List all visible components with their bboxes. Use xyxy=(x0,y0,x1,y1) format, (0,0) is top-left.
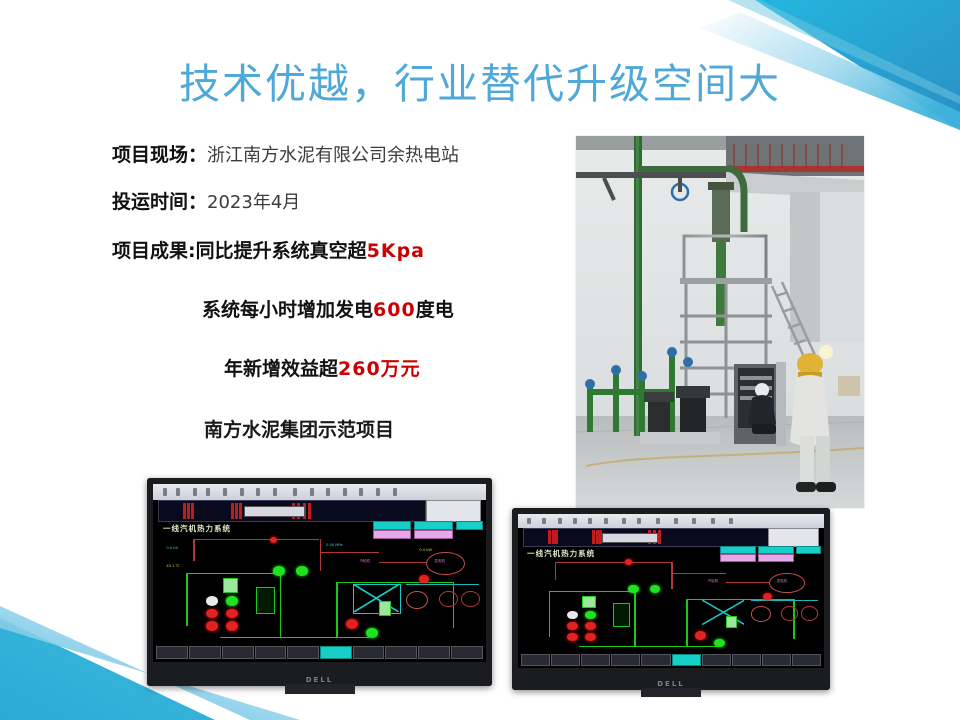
benefit-highlight: 260万元 xyxy=(338,358,421,380)
taskbar-item-4[interactable] xyxy=(287,646,319,659)
left-monitor-screen[interactable]: 一线汽机热力系统 发电机 汽轮机 xyxy=(153,484,486,662)
scada-toolbar[interactable] xyxy=(153,484,486,500)
circ-pump-symbol-right xyxy=(751,606,771,622)
scada-alarm-field[interactable] xyxy=(244,506,305,517)
scada-alarm-bar-right xyxy=(523,528,769,547)
steam-to-turbine-right xyxy=(671,573,726,574)
result-label: 项目成果: xyxy=(112,240,196,262)
taskbar-item-9[interactable] xyxy=(451,646,483,659)
taskbar-item-1-right[interactable] xyxy=(551,654,580,666)
benefit-prefix: 年新增效益超 xyxy=(224,358,338,380)
scada-tag-4-right[interactable] xyxy=(720,554,756,562)
steam-pipe-v2-right xyxy=(671,562,673,590)
fan-symbol-1-right xyxy=(781,606,798,620)
scada-reading-3: 0.00 MPa xyxy=(326,543,342,547)
taskbar-item-6[interactable] xyxy=(353,646,385,659)
result-prefix: 同比提升系统真空超 xyxy=(196,240,367,262)
pump-2-right[interactable] xyxy=(650,585,661,593)
scada-taskbar-right[interactable] xyxy=(521,654,821,666)
right-monitor-stand xyxy=(641,688,701,697)
generator-symbol xyxy=(426,552,465,575)
steam-pipe-v1 xyxy=(193,539,195,560)
taskbar-item-8[interactable] xyxy=(418,646,450,659)
scada-reading-1: 0.0 t/h xyxy=(166,546,178,550)
scada-alarm-field-right[interactable] xyxy=(602,533,658,543)
scada-clock-panel-right xyxy=(768,528,819,547)
taskbar-item-6-right[interactable] xyxy=(702,654,731,666)
steam-header xyxy=(193,539,320,540)
water-header-1-right xyxy=(549,591,635,592)
pump-4-right[interactable] xyxy=(567,622,578,630)
site-value: 浙江南方水泥有限公司余热电站 xyxy=(207,145,459,166)
fact-row-result: 项目成果:同比提升系统真空超5Kpa xyxy=(112,242,532,261)
scada-title-right: 一线汽机热力系统 xyxy=(527,548,595,559)
steam-valve[interactable] xyxy=(270,537,277,543)
level-indicator xyxy=(223,578,238,592)
level-indicator-right xyxy=(582,596,596,609)
left-monitor-stand xyxy=(285,684,355,694)
taskbar-item-7[interactable] xyxy=(385,646,417,659)
fan-symbol-1 xyxy=(439,591,458,607)
scada-taskbar[interactable] xyxy=(156,646,482,659)
scada-tag-2[interactable] xyxy=(414,521,453,529)
taskbar-item-0-right[interactable] xyxy=(521,654,550,666)
pump-6-right[interactable] xyxy=(567,633,578,641)
fact-row-date: 投运时间：2023年4月 xyxy=(112,193,532,212)
pump-3[interactable] xyxy=(226,596,238,606)
scada-tag-2-right[interactable] xyxy=(758,546,794,554)
pump-2[interactable] xyxy=(296,566,308,576)
scada-tag-5[interactable] xyxy=(414,530,453,538)
pump-4[interactable] xyxy=(206,609,218,619)
generator-label-right: 发电机 xyxy=(777,579,788,584)
fact-row-benefit: 年新增效益超260万元 xyxy=(224,360,532,379)
taskbar-item-8-right[interactable] xyxy=(762,654,791,666)
steam-pipe-v1-right xyxy=(555,562,557,580)
fact-row-demo: 南方水泥集团示范项目 xyxy=(204,421,532,440)
power-highlight: 600 xyxy=(373,299,416,321)
water-pipe-left xyxy=(186,573,188,626)
water-pipe-left-right xyxy=(549,591,551,637)
steam-pipe-v2 xyxy=(320,539,322,571)
pump-5[interactable] xyxy=(226,609,238,619)
taskbar-item-9-right[interactable] xyxy=(792,654,821,666)
valve-1-right[interactable] xyxy=(567,611,578,619)
taskbar-item-3[interactable] xyxy=(255,646,287,659)
turbine-gen-shaft-right xyxy=(726,582,769,583)
taskbar-item-5-active-right[interactable] xyxy=(672,654,701,666)
taskbar-item-7-right[interactable] xyxy=(732,654,761,666)
power-prefix: 系统每小时增加发电 xyxy=(202,299,373,321)
scada-clock-panel xyxy=(426,500,481,522)
right-monitor[interactable]: 一线汽机热力系统 发电机 汽轮机 xyxy=(512,508,830,690)
valve-2-right[interactable] xyxy=(763,593,772,600)
pump-7[interactable] xyxy=(226,621,238,631)
scada-tag-1-right[interactable] xyxy=(720,546,756,554)
water-pipe-right xyxy=(336,582,338,637)
condenser-cross xyxy=(353,584,400,612)
taskbar-item-3-right[interactable] xyxy=(611,654,640,666)
power-suffix: 度电 xyxy=(416,299,454,321)
plant-photo xyxy=(576,136,864,508)
scada-tag-4[interactable] xyxy=(373,530,412,538)
water-pipe-mid xyxy=(280,573,282,637)
valve-1[interactable] xyxy=(206,596,218,606)
date-value: 2023年4月 xyxy=(207,192,300,213)
left-monitor-brand: DELL xyxy=(147,676,492,684)
fact-row-power: 系统每小时增加发电600度电 xyxy=(202,301,532,320)
turbine-label: 汽轮机 xyxy=(359,559,370,564)
pump-9-right[interactable] xyxy=(714,639,725,647)
plant-photo-illustration xyxy=(576,136,864,508)
taskbar-item-2-right[interactable] xyxy=(581,654,610,666)
water-header-1 xyxy=(186,573,279,574)
facts-block: 项目现场：浙江南方水泥有限公司余热电站 投运时间：2023年4月 项目成果:同比… xyxy=(112,142,532,501)
generator-label: 发电机 xyxy=(434,559,445,564)
pump-7-right[interactable] xyxy=(585,633,596,641)
water-header-2-right xyxy=(579,646,717,647)
hotwell-level xyxy=(379,601,391,615)
scada-view-right: 一线汽机热力系统 发电机 汽轮机 xyxy=(518,514,824,668)
pump-5-right[interactable] xyxy=(585,622,596,630)
hotwell-level-right xyxy=(726,616,737,629)
taskbar-item-1[interactable] xyxy=(189,646,221,659)
water-pipe-right-right xyxy=(686,599,688,647)
water-header-2 xyxy=(220,637,370,638)
slide-root: 技术优越，行业替代升级空间大 项目现场：浙江南方水泥有限公司余热电站 投运时间：… xyxy=(0,0,960,720)
result-highlight: 5Kpa xyxy=(367,240,425,262)
taskbar-item-0[interactable] xyxy=(156,646,188,659)
deaerator-vessel-right xyxy=(613,603,630,627)
cooling-line-right xyxy=(751,600,818,601)
taskbar-item-5-active[interactable] xyxy=(320,646,352,659)
fan-symbol-2 xyxy=(461,591,480,607)
deaerator-vessel xyxy=(256,587,275,614)
scada-view-left: 一线汽机热力系统 发电机 汽轮机 xyxy=(153,484,486,662)
right-monitor-screen[interactable]: 一线汽机热力系统 发电机 汽轮机 xyxy=(518,514,824,668)
taskbar-item-2[interactable] xyxy=(222,646,254,659)
water-header-3 xyxy=(336,582,453,583)
pump-1[interactable] xyxy=(273,566,285,576)
page-title: 技术优越，行业替代升级空间大 xyxy=(0,62,960,107)
scada-alarm-bar xyxy=(158,500,426,522)
scada-tag-1[interactable] xyxy=(373,521,412,529)
pump-8[interactable] xyxy=(346,619,358,629)
steam-to-turbine xyxy=(320,552,380,553)
steam-header-right xyxy=(555,562,671,563)
fan-symbol-2-right xyxy=(801,606,818,620)
water-pipe-mid-right xyxy=(634,591,636,646)
fact-row-site: 项目现场：浙江南方水泥有限公司余热电站 xyxy=(112,142,532,165)
pump-6[interactable] xyxy=(206,621,218,631)
circ-pump-symbol xyxy=(406,591,428,609)
pump-3-right[interactable] xyxy=(585,611,596,619)
scada-reading-4: 0.0 kW xyxy=(419,548,432,552)
taskbar-item-4-right[interactable] xyxy=(641,654,670,666)
date-label: 投运时间： xyxy=(112,191,207,213)
left-monitor[interactable]: 一线汽机热力系统 发电机 汽轮机 xyxy=(147,478,492,686)
pump-9[interactable] xyxy=(366,628,378,638)
steam-valve-right[interactable] xyxy=(625,559,632,564)
scada-tag-3-right[interactable] xyxy=(796,546,821,554)
pump-1-right[interactable] xyxy=(628,585,639,593)
right-monitor-brand: DELL xyxy=(512,680,830,688)
turbine-gen-shaft xyxy=(379,562,426,563)
condenser-cross-right xyxy=(702,600,745,625)
scada-tag-3[interactable] xyxy=(456,521,483,529)
scada-title: 一线汽机热力系统 xyxy=(163,523,231,534)
cooling-line xyxy=(406,584,479,585)
scada-toolbar-right[interactable] xyxy=(518,514,824,528)
site-label: 项目现场： xyxy=(112,144,207,166)
scada-reading-2: 43.1 ℃ xyxy=(166,564,179,568)
turbine-label-right: 汽轮机 xyxy=(708,579,719,584)
pump-8-right[interactable] xyxy=(695,631,706,639)
scada-tag-5-right[interactable] xyxy=(758,554,794,562)
